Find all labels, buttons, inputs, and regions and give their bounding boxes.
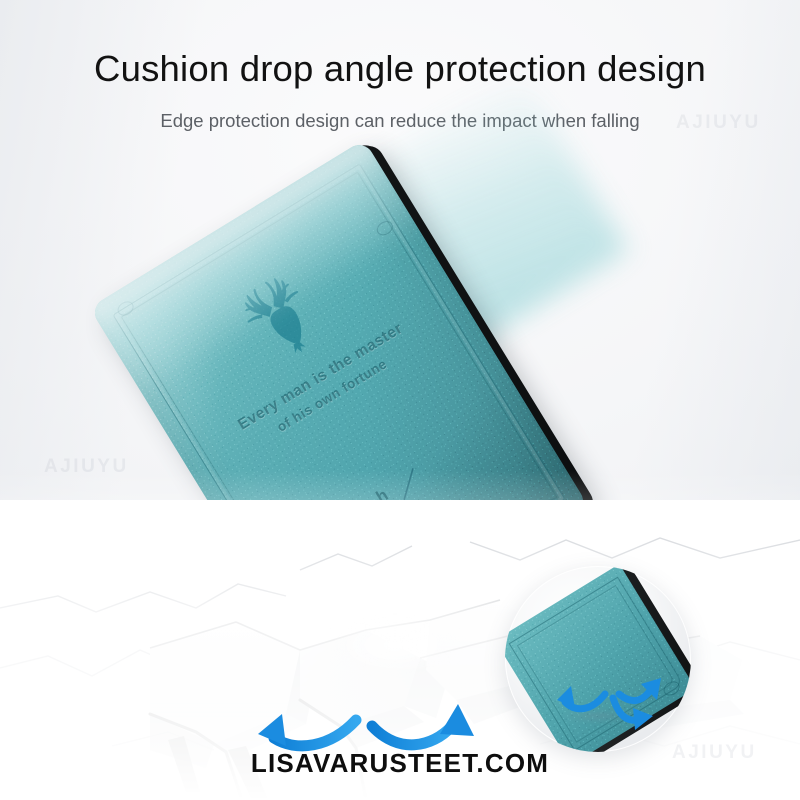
impact-arrow-right bbox=[372, 704, 474, 745]
impact-arrow-left bbox=[258, 714, 356, 746]
page-headline: Cushion drop angle protection design bbox=[0, 48, 800, 90]
inset-arrow-left bbox=[557, 686, 605, 709]
product-marketing-banner: Cushion drop angle protection design Edg… bbox=[0, 0, 800, 800]
corner-detail-inset bbox=[505, 566, 691, 752]
page-subheadline: Edge protection design can reduce the im… bbox=[0, 110, 800, 132]
inset-arrow-right bbox=[619, 678, 661, 701]
watermark-ajiuyu: AJIUYU bbox=[44, 456, 129, 478]
site-brand: LISAVARUSTEET.COM bbox=[0, 748, 800, 779]
inset-impact-arrows bbox=[557, 678, 667, 740]
